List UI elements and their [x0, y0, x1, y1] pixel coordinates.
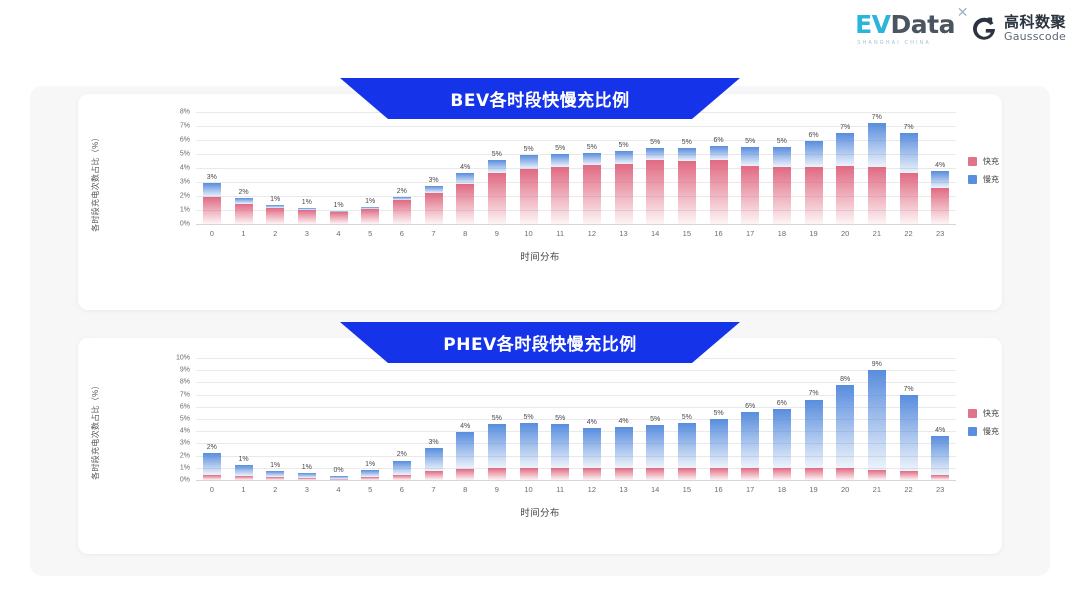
y-tick-label: 9% [180, 367, 190, 374]
bar-segment-fast [741, 166, 759, 224]
bar-segment-slow [456, 432, 474, 469]
y-tick-label: 10% [176, 355, 190, 362]
legend-swatch-icon [968, 175, 977, 184]
brand-header: EVData✕ SHANGHAI CHINA 高科数聚 Gausscode [0, 0, 1080, 62]
x-tick-label: 5 [368, 485, 372, 494]
bar-column[interactable]: 3% [425, 112, 443, 224]
x-tick-label: 10 [524, 485, 532, 494]
bar-value-label: 7% [903, 386, 913, 393]
x-tick-label: 21 [873, 485, 881, 494]
x-tick-label: 6 [400, 485, 404, 494]
bar-value-label: 5% [713, 410, 723, 417]
bar-column[interactable]: 3% [203, 112, 221, 224]
bar-segment-fast [931, 475, 949, 480]
y-tick-label: 4% [180, 165, 190, 172]
x-tick-label: 19 [809, 485, 817, 494]
y-axis-ticks-phev: 0%1%2%3%4%5%6%7%8%9%10% [164, 358, 190, 480]
x-tick-label: 21 [873, 229, 881, 238]
bar-segment-fast [678, 161, 696, 224]
chart-title-phev: PHEV各时段快慢充比例 [443, 330, 636, 355]
bar-segment-slow [425, 186, 443, 193]
bar-value-label: 5% [618, 142, 628, 149]
slide-content-panel: BEV各时段快慢充比例 各时段充电次数占比（%） 0%1%2%3%4%5%6%7… [30, 86, 1050, 576]
x-tick-label: 1 [241, 485, 245, 494]
bar-segment-fast [615, 164, 633, 224]
y-tick-label: 1% [180, 207, 190, 214]
bar-value-label: 7% [840, 124, 850, 131]
x-tick-label: 11 [556, 485, 564, 494]
bar-value-label: 1% [302, 464, 312, 471]
bar-column[interactable]: 1% [298, 358, 316, 480]
bar-value-label: 5% [492, 151, 502, 158]
bar-value-label: 5% [555, 415, 565, 422]
bar-segment-slow [868, 123, 886, 168]
bar-column[interactable]: 5% [646, 358, 664, 480]
x-axis-ticks-bev: 01234567891011121314151617181920212223 [196, 226, 956, 240]
bar-column[interactable]: 7% [900, 112, 918, 224]
x-tick-label: 14 [651, 485, 659, 494]
bar-value-label: 7% [872, 114, 882, 121]
y-tick-label: 8% [180, 379, 190, 386]
bar-value-label: 5% [682, 414, 692, 421]
x-tick-label: 8 [463, 229, 467, 238]
x-tick-label: 18 [778, 229, 786, 238]
bar-value-label: 3% [428, 439, 438, 446]
bar-segment-slow [710, 419, 728, 468]
bar-segment-slow [266, 205, 284, 208]
bar-segment-fast [805, 468, 823, 480]
bar-segment-slow [425, 448, 443, 471]
bar-column[interactable]: 5% [583, 112, 601, 224]
x-tick-label: 4 [336, 485, 340, 494]
bar-segment-slow [773, 409, 791, 468]
bar-value-label: 3% [428, 177, 438, 184]
bar-segment-slow [456, 173, 474, 184]
bar-column[interactable]: 4% [931, 358, 949, 480]
bar-column[interactable]: 6% [805, 112, 823, 224]
y-tick-label: 8% [180, 109, 190, 116]
bar-segment-slow [710, 146, 728, 161]
chart-title-banner-bev: BEV各时段快慢充比例 [340, 78, 740, 119]
y-tick-label: 1% [180, 464, 190, 471]
bar-segment-slow [298, 208, 316, 210]
bar-column[interactable]: 1% [235, 358, 253, 480]
x-tick-label: 5 [368, 229, 372, 238]
bar-column[interactable]: 1% [266, 358, 284, 480]
bar-segment-slow [330, 211, 348, 212]
bar-column[interactable]: 4% [456, 112, 474, 224]
bar-segment-fast [615, 468, 633, 480]
bar-value-label: 2% [238, 189, 248, 196]
bar-value-label: 7% [808, 390, 818, 397]
bar-segment-slow [393, 197, 411, 200]
x-tick-label: 15 [683, 229, 691, 238]
bar-segment-slow [520, 423, 538, 468]
bar-column[interactable]: 1% [361, 358, 379, 480]
bar-value-label: 1% [270, 196, 280, 203]
bar-value-label: 5% [650, 416, 660, 423]
bar-value-label: 5% [523, 414, 533, 421]
legend-label: 慢充 [983, 174, 999, 185]
bar-segment-fast [773, 167, 791, 224]
evdata-data-text: Data [891, 10, 955, 39]
bar-segment-fast [646, 160, 664, 224]
x-tick-label: 4 [336, 229, 340, 238]
bar-segment-fast [836, 468, 854, 480]
y-tick-label: 2% [180, 193, 190, 200]
bar-segment-slow [805, 400, 823, 468]
bar-segment-fast [741, 468, 759, 480]
y-tick-label: 0% [180, 221, 190, 228]
bar-column[interactable]: 4% [456, 358, 474, 480]
bar-segment-slow [773, 147, 791, 167]
bar-segment-slow [678, 423, 696, 468]
bar-series-phev: 2%1%1%1%0%1%2%3%4%5%5%5%4%4%5%5%5%6%6%7%… [196, 358, 956, 480]
bar-segment-slow [488, 424, 506, 468]
bar-segment-fast [330, 212, 348, 224]
chart-card-bev: 各时段充电次数占比（%） 0%1%2%3%4%5%6%7%8% 3%2%1%1%… [78, 94, 1002, 310]
y-axis-label-phev: 各时段充电次数占比（%） [88, 360, 102, 500]
evdata-x-icon: ✕ [957, 6, 968, 20]
y-tick-label: 5% [180, 151, 190, 158]
x-axis-label-phev: 时间分布 [78, 505, 1002, 519]
legend-label: 快充 [983, 408, 999, 419]
legend-swatch-icon [968, 427, 977, 436]
bar-segment-slow [583, 428, 601, 468]
bar-column[interactable]: 1% [298, 112, 316, 224]
chart-title-bev: BEV各时段快慢充比例 [450, 86, 629, 111]
bar-segment-fast [456, 184, 474, 224]
bar-segment-slow [203, 453, 221, 474]
bar-column[interactable]: 7% [900, 358, 918, 480]
bar-segment-slow [646, 425, 664, 468]
bar-column[interactable]: 5% [520, 358, 538, 480]
gridline [196, 480, 956, 481]
x-tick-label: 17 [746, 229, 754, 238]
bar-column[interactable]: 5% [551, 112, 569, 224]
bar-value-label: 1% [302, 199, 312, 206]
x-tick-label: 3 [305, 485, 309, 494]
x-tick-label: 10 [524, 229, 532, 238]
x-tick-label: 2 [273, 229, 277, 238]
x-tick-label: 14 [651, 229, 659, 238]
y-axis-label-bev: 各时段充电次数占比（%） [88, 112, 102, 252]
bar-column[interactable]: 9% [868, 358, 886, 480]
bar-value-label: 5% [523, 146, 533, 153]
x-tick-label: 18 [778, 485, 786, 494]
bar-column[interactable]: 1% [361, 112, 379, 224]
x-tick-label: 22 [904, 485, 912, 494]
bar-segment-slow [361, 470, 379, 477]
x-tick-label: 20 [841, 229, 849, 238]
x-tick-label: 11 [556, 229, 564, 238]
x-tick-label: 15 [683, 485, 691, 494]
y-tick-label: 3% [180, 440, 190, 447]
bar-segment-fast [266, 208, 284, 224]
bar-column[interactable]: 5% [488, 112, 506, 224]
legend-bev: 快充慢充 [968, 156, 999, 185]
bar-column[interactable]: 5% [678, 358, 696, 480]
bar-segment-fast [551, 167, 569, 224]
y-tick-label: 7% [180, 391, 190, 398]
x-tick-label: 7 [431, 229, 435, 238]
bar-segment-fast [393, 200, 411, 224]
bar-value-label: 6% [713, 137, 723, 144]
bar-segment-fast [235, 204, 253, 224]
bar-value-label: 4% [935, 162, 945, 169]
bar-segment-fast [773, 468, 791, 480]
bar-value-label: 4% [618, 418, 628, 425]
legend-item[interactable]: 慢充 [968, 426, 999, 437]
bar-segment-fast [868, 167, 886, 224]
evdata-tagline: SHANGHAI CHINA [857, 40, 931, 46]
bar-column[interactable]: 3% [425, 358, 443, 480]
bar-column[interactable]: 6% [773, 358, 791, 480]
bar-column[interactable]: 5% [615, 112, 633, 224]
bar-segment-fast [330, 479, 348, 480]
x-tick-label: 19 [809, 229, 817, 238]
bar-column[interactable]: 5% [741, 112, 759, 224]
bar-column[interactable]: 5% [646, 112, 664, 224]
bar-segment-fast [900, 173, 918, 224]
x-tick-label: 17 [746, 485, 754, 494]
bar-segment-fast [583, 468, 601, 480]
x-tick-label: 9 [495, 485, 499, 494]
y-tick-label: 3% [180, 179, 190, 186]
bar-segment-slow [646, 148, 664, 160]
bar-column[interactable]: 5% [520, 112, 538, 224]
bar-column[interactable]: 4% [931, 112, 949, 224]
bar-segment-fast [425, 471, 443, 480]
bar-column[interactable]: 1% [330, 112, 348, 224]
bar-segment-fast [868, 470, 886, 480]
x-tick-label: 12 [588, 229, 596, 238]
bar-value-label: 3% [207, 174, 217, 181]
bar-value-label: 4% [935, 427, 945, 434]
brand-logo-group: EVData✕ SHANGHAI CHINA 高科数聚 Gausscode [855, 12, 1066, 46]
bar-segment-slow [298, 473, 316, 477]
bar-segment-fast [203, 197, 221, 224]
y-tick-label: 6% [180, 403, 190, 410]
bar-column[interactable]: 2% [393, 358, 411, 480]
bar-segment-slow [615, 151, 633, 164]
bar-value-label: 1% [270, 462, 280, 469]
x-tick-label: 7 [431, 485, 435, 494]
bar-segment-fast [361, 209, 379, 224]
bar-segment-slow [931, 171, 949, 188]
bar-value-label: 5% [777, 138, 787, 145]
gausscode-wordmark: 高科数聚 Gausscode [1004, 15, 1066, 42]
legend-item[interactable]: 慢充 [968, 174, 999, 185]
plot-area-bev: 各时段充电次数占比（%） 0%1%2%3%4%5%6%7%8% 3%2%1%1%… [78, 94, 1002, 310]
bar-segment-slow [361, 207, 379, 208]
evdata-ev-text: EV [855, 10, 890, 39]
bar-value-label: 0% [333, 467, 343, 474]
bar-value-label: 5% [587, 144, 597, 151]
x-tick-label: 23 [936, 229, 944, 238]
x-tick-label: 9 [495, 229, 499, 238]
evdata-wordmark: EVData✕ [855, 12, 955, 37]
bar-segment-fast [646, 468, 664, 480]
bar-segment-slow [330, 476, 348, 478]
bar-segment-fast [425, 193, 443, 224]
bar-segment-slow [836, 385, 854, 468]
x-tick-label: 12 [588, 485, 596, 494]
bar-segment-fast [203, 475, 221, 480]
bar-column[interactable]: 5% [488, 358, 506, 480]
y-tick-label: 2% [180, 452, 190, 459]
bar-segment-slow [520, 155, 538, 168]
bar-segment-slow [741, 412, 759, 468]
x-tick-label: 8 [463, 485, 467, 494]
bar-segment-fast [583, 165, 601, 225]
bar-segment-slow [805, 141, 823, 167]
bar-column[interactable]: 6% [710, 112, 728, 224]
bar-segment-slow [203, 183, 221, 196]
chart-title-banner-phev: PHEV各时段快慢充比例 [340, 322, 740, 363]
x-tick-label: 1 [241, 229, 245, 238]
bar-segment-slow [235, 198, 253, 204]
bar-value-label: 5% [682, 139, 692, 146]
x-tick-label: 0 [210, 485, 214, 494]
bar-segment-fast [266, 477, 284, 480]
bar-column[interactable]: 5% [678, 112, 696, 224]
bar-value-label: 1% [365, 461, 375, 468]
bar-value-label: 8% [840, 376, 850, 383]
legend-label: 快充 [983, 156, 999, 167]
bar-value-label: 5% [555, 145, 565, 152]
bar-segment-fast [488, 468, 506, 480]
y-axis-ticks-bev: 0%1%2%3%4%5%6%7%8% [164, 112, 190, 224]
chart-card-phev: 各时段充电次数占比（%） 0%1%2%3%4%5%6%7%8%9%10% 2%1… [78, 338, 1002, 554]
bar-value-label: 1% [238, 456, 248, 463]
bar-segment-fast [900, 471, 918, 480]
legend-item[interactable]: 快充 [968, 156, 999, 167]
bar-segment-fast [393, 475, 411, 480]
x-tick-label: 6 [400, 229, 404, 238]
bar-segment-fast [520, 169, 538, 224]
x-tick-label: 22 [904, 229, 912, 238]
bar-segment-slow [235, 465, 253, 476]
bar-column[interactable]: 2% [235, 112, 253, 224]
bar-column[interactable]: 1% [266, 112, 284, 224]
bar-column[interactable]: 8% [836, 358, 854, 480]
bar-series-bev: 3%2%1%1%1%1%2%3%4%5%5%5%5%5%5%5%6%5%5%6%… [196, 112, 956, 224]
bar-column[interactable]: 4% [583, 358, 601, 480]
bar-column[interactable]: 7% [836, 112, 854, 224]
legend-swatch-icon [968, 157, 977, 166]
bar-segment-slow [836, 133, 854, 166]
evdata-logo: EVData✕ SHANGHAI CHINA [855, 12, 955, 46]
bar-value-label: 2% [397, 188, 407, 195]
bar-column[interactable]: 5% [710, 358, 728, 480]
gausscode-name-en: Gausscode [1004, 31, 1066, 43]
bar-value-label: 4% [587, 419, 597, 426]
bar-segment-slow [900, 133, 918, 173]
bar-value-label: 7% [903, 124, 913, 131]
bar-column[interactable]: 7% [868, 112, 886, 224]
bar-segment-fast [520, 468, 538, 480]
y-tick-label: 6% [180, 137, 190, 144]
bar-segment-fast [361, 477, 379, 480]
bar-column[interactable]: 7% [805, 358, 823, 480]
bar-segment-fast [298, 210, 316, 224]
bar-value-label: 1% [333, 202, 343, 209]
legend-label: 慢充 [983, 426, 999, 437]
bar-value-label: 6% [777, 400, 787, 407]
bar-column[interactable]: 5% [773, 112, 791, 224]
bar-column[interactable]: 0% [330, 358, 348, 480]
bar-segment-fast [298, 478, 316, 480]
legend-phev: 快充慢充 [968, 408, 999, 437]
bar-value-label: 1% [365, 198, 375, 205]
x-tick-label: 3 [305, 229, 309, 238]
y-tick-label: 0% [180, 477, 190, 484]
bar-segment-fast [488, 173, 506, 224]
gridline [196, 224, 956, 225]
bar-segment-fast [931, 188, 949, 224]
x-tick-label: 23 [936, 485, 944, 494]
bar-segment-slow [583, 153, 601, 165]
bar-column[interactable]: 4% [615, 358, 633, 480]
bar-value-label: 5% [492, 415, 502, 422]
bar-segment-slow [266, 471, 284, 477]
x-tick-label: 20 [841, 485, 849, 494]
bar-column[interactable]: 6% [741, 358, 759, 480]
x-tick-label: 2 [273, 485, 277, 494]
x-tick-label: 13 [619, 485, 627, 494]
bar-segment-slow [615, 427, 633, 468]
gausscode-name-cn: 高科数聚 [1004, 15, 1066, 31]
bar-segment-fast [710, 468, 728, 480]
bar-segment-fast [551, 468, 569, 480]
bar-segment-fast [836, 166, 854, 224]
bar-value-label: 4% [460, 423, 470, 430]
bar-value-label: 5% [650, 139, 660, 146]
bar-value-label: 6% [745, 403, 755, 410]
y-tick-label: 4% [180, 428, 190, 435]
bar-value-label: 5% [745, 138, 755, 145]
bar-value-label: 2% [397, 451, 407, 458]
bar-segment-slow [900, 395, 918, 472]
x-tick-label: 16 [714, 485, 722, 494]
bar-segment-slow [931, 436, 949, 475]
x-tick-label: 16 [714, 229, 722, 238]
bar-segment-fast [456, 469, 474, 480]
legend-item[interactable]: 快充 [968, 408, 999, 419]
bar-segment-fast [710, 160, 728, 224]
plot-area-phev: 各时段充电次数占比（%） 0%1%2%3%4%5%6%7%8%9%10% 2%1… [78, 338, 1002, 554]
gausscode-mark-icon [971, 16, 997, 42]
gausscode-logo: 高科数聚 Gausscode [971, 15, 1066, 42]
bar-segment-slow [551, 154, 569, 167]
bar-column[interactable]: 5% [551, 358, 569, 480]
bar-segment-slow [551, 424, 569, 468]
bar-column[interactable]: 2% [203, 358, 221, 480]
x-axis-ticks-phev: 01234567891011121314151617181920212223 [196, 482, 956, 496]
bar-column[interactable]: 2% [393, 112, 411, 224]
bar-segment-fast [678, 468, 696, 480]
bar-value-label: 9% [872, 361, 882, 368]
bar-segment-slow [678, 148, 696, 161]
bar-value-label: 6% [808, 132, 818, 139]
legend-swatch-icon [968, 409, 977, 418]
x-tick-label: 13 [619, 229, 627, 238]
bar-value-label: 4% [460, 164, 470, 171]
x-axis-label-bev: 时间分布 [78, 249, 1002, 263]
bar-value-label: 2% [207, 444, 217, 451]
bar-segment-slow [393, 461, 411, 475]
